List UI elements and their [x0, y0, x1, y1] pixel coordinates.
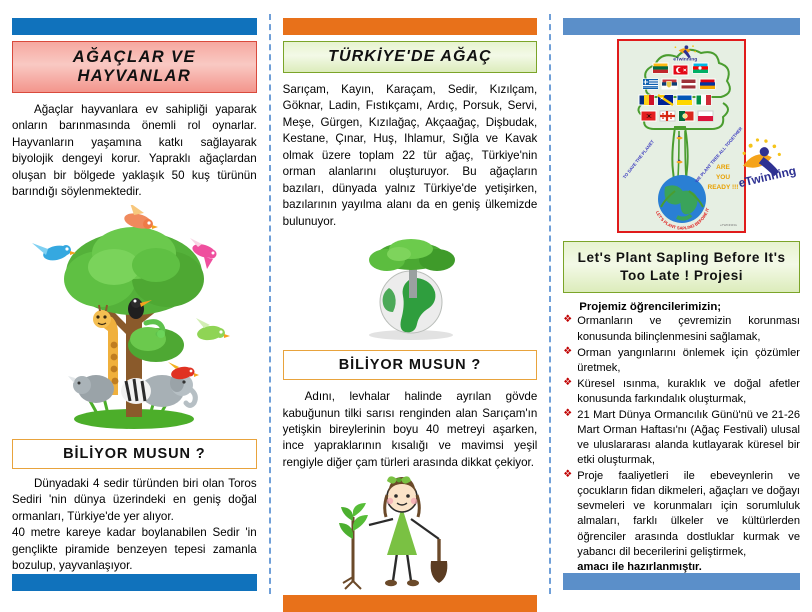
diamond-bullet-icon: ❖ — [563, 345, 572, 359]
svg-text:eTWINNING: eTWINNING — [720, 223, 737, 227]
diamond-bullet-icon: ❖ — [563, 468, 572, 482]
panel3-top-bar — [563, 18, 800, 35]
panel2-fact-paragraph: Adını, levhalar halinde ayrılan gövde ka… — [283, 389, 538, 471]
panel1-fact-paragraph-1: Dünyadaki 4 sedir türünden biri olan Tor… — [12, 476, 257, 525]
diamond-bullet-icon: ❖ — [563, 407, 572, 421]
panel2-top-bar — [283, 18, 538, 35]
panel2-paragraph: Sarıçam, Kayın, Karaçam, Sedir, Kızılçam… — [283, 82, 538, 230]
girl-planting-sapling-illustration — [283, 473, 538, 595]
svg-text:READY !!!: READY !!! — [708, 184, 739, 191]
list-item: ❖ Proje faaliyetleri ile ebeveynlerin ve… — [563, 469, 800, 559]
tree-with-animals-illustration — [12, 205, 257, 433]
panel3-bottom-bar — [563, 573, 800, 590]
panel2-subtitle: BİLİYOR MUSUN ? — [283, 350, 538, 380]
globe-with-tree-illustration — [283, 236, 538, 342]
diamond-bullet-icon: ❖ — [563, 376, 572, 390]
list-item: ❖ Orman yangınlarını önlemek için çözüml… — [563, 346, 800, 376]
etwinning-project-poster: eTwinning — [617, 39, 746, 233]
list-item: ❖ 21 Mart Dünya Ormancılık Günü'nü ve 21… — [563, 408, 800, 468]
panel3-project-title: Let's Plant Sapling Before It's Too Late… — [563, 241, 800, 293]
panel3-goals-list: ❖ Ormanların ve çevremizin korunması kon… — [563, 314, 800, 560]
panel-trees-in-turkey: TÜRKİYE'DE AĞAÇ Sarıçam, Kayın, Karaçam,… — [271, 0, 550, 608]
panel3-goals-closing: amacı ile hazırlanmıştır. — [577, 561, 800, 573]
list-item: ❖ Ormanların ve çevremizin korunması kon… — [563, 314, 800, 344]
panel1-subtitle: BİLİYOR MUSUN ? — [12, 439, 257, 469]
etwinning-logo: eTwinning — [727, 129, 802, 207]
panel1-paragraph: Ağaçlar hayvanlara ev sahipliği yaparak … — [12, 102, 257, 201]
panel-project: eTwinning — [551, 0, 812, 608]
diamond-bullet-icon: ❖ — [563, 313, 572, 327]
panel1-title: AĞAÇLAR VE HAYVANLAR — [12, 41, 257, 93]
svg-text:eTwinning: eTwinning — [673, 56, 697, 62]
panel1-fact-paragraph-2: 40 metre kareye kadar boylanabilen Sedir… — [12, 525, 257, 574]
panel-trees-and-animals: AĞAÇLAR VE HAYVANLAR Ağaçlar hayvanlara … — [0, 0, 269, 608]
panel1-top-bar — [12, 18, 257, 35]
panel2-title: TÜRKİYE'DE AĞAÇ — [283, 41, 538, 73]
panel2-bottom-bar — [283, 595, 538, 612]
list-item: ❖ Küresel ısınma, kuraklık ve doğal afet… — [563, 377, 800, 407]
panel3-goals-heading: Projemiz öğrencilerimizin; — [579, 301, 800, 313]
poster-area: eTwinning — [563, 35, 800, 233]
svg-text:ARE: ARE — [716, 164, 730, 171]
trifold-brochure: AĞAÇLAR VE HAYVANLAR Ağaçlar hayvanlara … — [0, 0, 812, 608]
svg-text:YOU: YOU — [716, 174, 730, 181]
panel1-bottom-bar — [12, 574, 257, 591]
